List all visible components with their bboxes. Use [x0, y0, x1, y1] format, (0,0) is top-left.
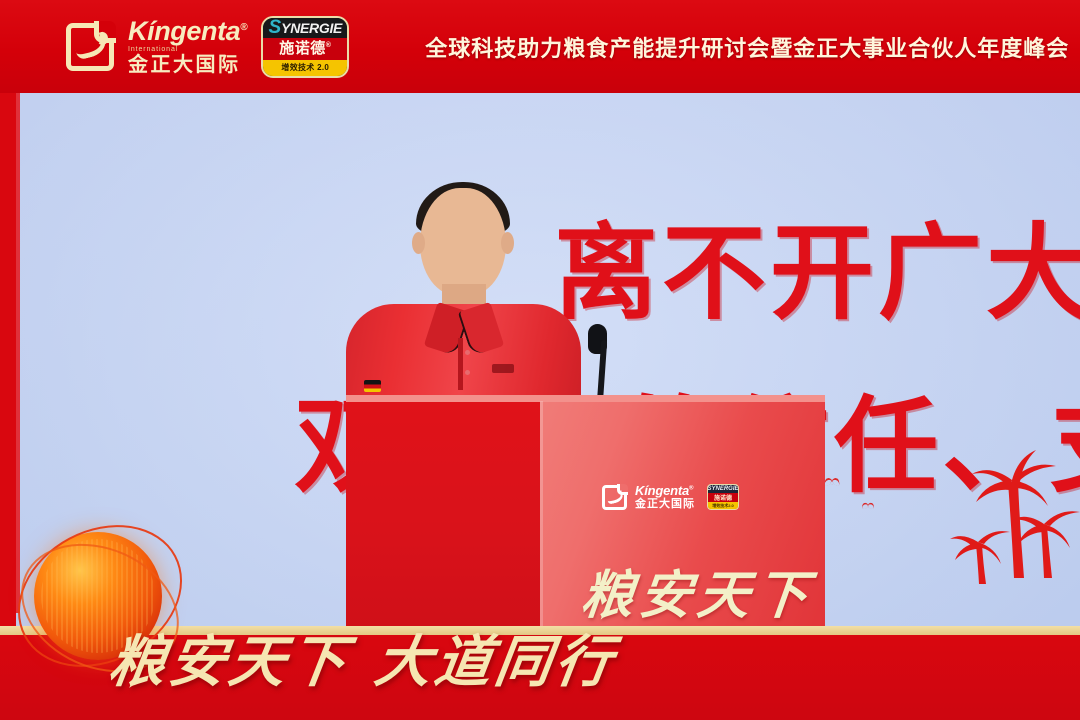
shirt-chest-logo-icon [492, 364, 514, 373]
kingenta-wordmark: Kíngenta® International 金正大国际 [128, 18, 247, 75]
banner-slogan-left: 粮安天下 [105, 632, 354, 694]
poster-frame: Kíngenta® International 金正大国际 SYNERGIE 施… [0, 0, 1080, 720]
speaker-placket [458, 338, 463, 390]
synergie-badge-line1: SYNERGIE [263, 18, 347, 38]
podium-logo-group: Kíngenta® 金正大国际 SYNERGIE 施诺德 增效技术2.0 [602, 484, 739, 510]
podium-top-edge [346, 395, 825, 402]
podium-left-face [346, 399, 540, 637]
podium-badge-line2: 施诺德 [708, 493, 738, 502]
banner-slogan-right: 大道同行 [371, 632, 620, 694]
stage-left-edge [16, 93, 20, 613]
registered-mark-icon: ® [240, 22, 247, 33]
synergie-badge-icon: SYNERGIE 施诺德® 增效技术 2.0 [261, 16, 349, 78]
event-title: 全球科技助力粮食产能提升研讨会暨金正大事业合伙人年度峰会 [425, 31, 1069, 63]
brand-tagline-en: International [128, 46, 247, 53]
speaker-ear-left [412, 232, 425, 254]
shirt-button-icon [465, 370, 470, 375]
podium-badge-line1: SYNERGIE [708, 485, 738, 493]
speaker-head [420, 188, 506, 296]
shirt-sleeve-badge-icon [364, 380, 381, 392]
header-band: Kíngenta® International 金正大国际 SYNERGIE 施… [0, 0, 1080, 93]
banner-slogan: 粮安天下大道同行 [104, 617, 621, 698]
brand-group: Kíngenta® International 金正大国际 SYNERGIE 施… [66, 16, 349, 78]
synergie-initial: S [268, 18, 281, 37]
podium-wordmark: Kíngenta® 金正大国际 [635, 484, 695, 510]
bird-icon [824, 478, 840, 486]
shirt-button-icon [465, 350, 470, 355]
bird-icon [862, 503, 875, 509]
podium-badge-line3: 增效技术2.0 [708, 502, 738, 509]
podium-seam [540, 401, 543, 637]
brand-name-en: Kíngenta® [128, 18, 247, 45]
kingenta-logo-icon [66, 23, 114, 71]
podium-synergie-badge-icon: SYNERGIE 施诺德 增效技术2.0 [707, 484, 739, 510]
podium-brand-cn: 金正大国际 [635, 499, 695, 510]
brand-name-cn: 金正大国际 [128, 55, 247, 75]
palm-trees [920, 420, 1080, 610]
podium-brand-en: Kíngenta® [635, 484, 695, 497]
synergie-badge-line2: 施诺德® [263, 38, 347, 60]
palm-trees-icon [920, 420, 1080, 610]
speaker-ear-right [501, 232, 514, 254]
podium-kingenta-logo-icon [602, 485, 627, 510]
screen-text-line-1: 离不开广大合 [554, 188, 1080, 339]
synergie-badge-line3: 增效技术 2.0 [263, 60, 347, 76]
